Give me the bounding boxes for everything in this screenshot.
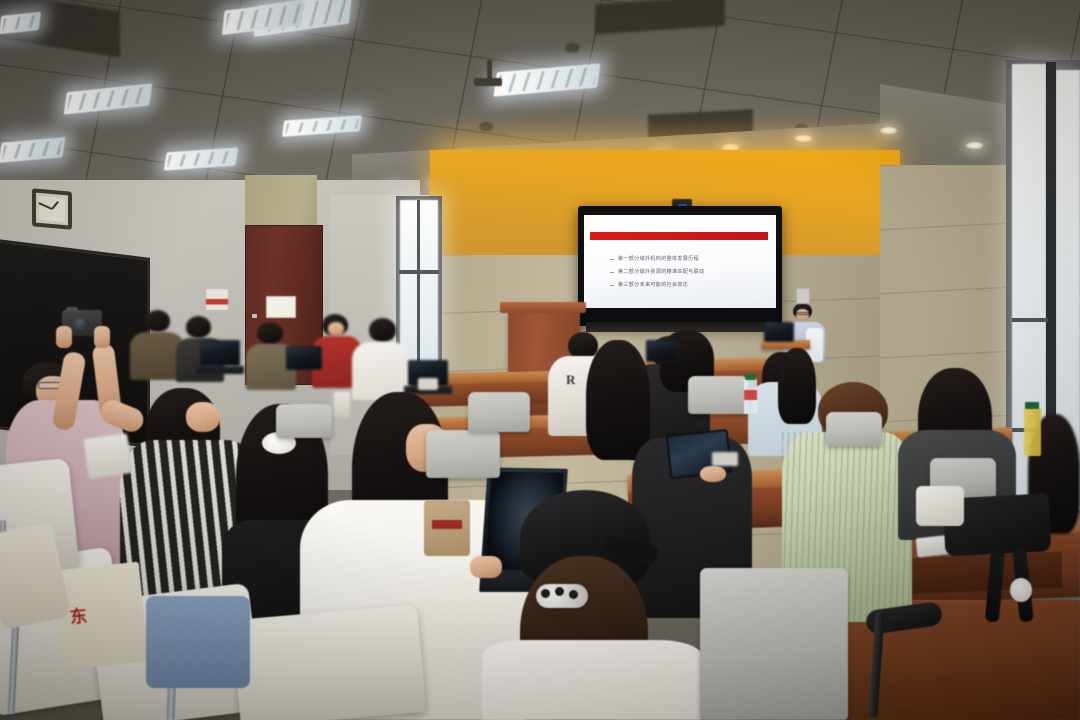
bottle-cap: [1025, 402, 1039, 409]
laptop[interactable]: [286, 346, 322, 370]
beaded-hair-tie: [536, 584, 588, 608]
shirt-letter-r: R: [566, 372, 579, 387]
projector-mount: [474, 78, 502, 86]
door-handle[interactable]: [252, 314, 257, 318]
window-mullion-right: [1012, 318, 1048, 322]
slide: 第一部分域外机构的整体发展历程 第二部分域外资源的精准匹配与联动 第三部分未来可…: [584, 215, 776, 308]
paper: [418, 378, 438, 390]
paper: [712, 452, 738, 466]
slide-bullet-item: 第一部分域外机构的整体发展历程: [610, 255, 762, 264]
tissue-pack: [916, 486, 964, 526]
jacket-patch: [424, 500, 470, 556]
face: [186, 402, 220, 432]
downlight-icon: [966, 142, 983, 149]
hand: [700, 466, 726, 482]
laptop[interactable]: [200, 340, 240, 366]
denim-jacket: [146, 596, 250, 688]
window-mullion: [417, 200, 420, 367]
chair-grey[interactable]: [688, 376, 748, 414]
presentation-display[interactable]: 第一部分域外机构的整体发展历程 第二部分域外资源的精准匹配与联动 第三部分未来可…: [578, 206, 782, 326]
door-sign: [266, 296, 296, 318]
hand: [470, 556, 502, 578]
slide-accent-bar: [590, 232, 768, 240]
wall-sign: [205, 288, 229, 311]
notebook: [83, 433, 132, 479]
downlight-icon: [880, 127, 897, 134]
glasses-icon: [796, 312, 809, 315]
chair-grey[interactable]: [700, 568, 848, 720]
bag-charm: [1010, 578, 1032, 602]
wall-panel-switch[interactable]: [796, 288, 810, 304]
camera-flash: [66, 307, 78, 311]
tote-bag[interactable]: 东: [51, 562, 149, 671]
downlight-icon: [795, 135, 812, 142]
cup: [334, 392, 350, 418]
hand: [94, 326, 110, 348]
chair-grey[interactable]: [826, 412, 882, 446]
chair-grey[interactable]: [426, 430, 500, 478]
presenter-laptop: [764, 322, 794, 342]
juice-bottle[interactable]: [1024, 408, 1041, 456]
chair-grey[interactable]: [276, 404, 332, 438]
slide-bullet-item: 第三部分未来可能的社会效达: [610, 281, 762, 290]
patch-logo: [432, 520, 462, 529]
slide-bullet-list: 第一部分域外机构的整体发展历程 第二部分域外资源的精准匹配与联动 第三部分未来可…: [610, 255, 762, 294]
ceiling-sensor-icon: [480, 122, 493, 130]
podium-top: [500, 302, 586, 313]
bottle-cap: [745, 374, 756, 380]
attendee-long-hair: [586, 340, 650, 460]
ceiling-sensor-icon: [566, 43, 579, 51]
attendee-lightblue-hair: [778, 348, 816, 424]
attendee-cap-torso: [482, 640, 702, 720]
hand: [56, 326, 72, 348]
bottle-label: [744, 390, 757, 400]
wall-clock: [32, 188, 72, 229]
laptop-keyboard[interactable]: [196, 366, 244, 374]
chair-grey[interactable]: [468, 392, 530, 432]
lecture-hall-photo: 第一部分域外机构的整体发展历程 第二部分域外资源的精准匹配与联动 第三部分未来可…: [0, 0, 1080, 720]
slide-bullet-item: 第二部分域外资源的精准匹配与联动: [610, 268, 762, 277]
laptop[interactable]: [646, 340, 678, 362]
chair-white[interactable]: [232, 604, 427, 720]
